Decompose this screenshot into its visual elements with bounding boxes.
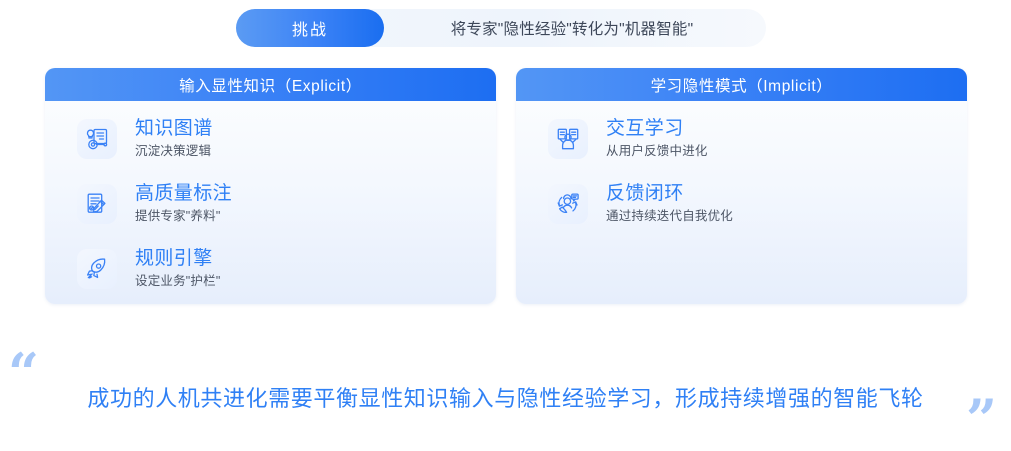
challenge-banner: 挑战 将专家"隐性经验"转化为"机器智能" bbox=[236, 9, 766, 47]
feature-subtitle: 提供专家"养料" bbox=[135, 208, 232, 225]
quote-close-icon: ” bbox=[966, 392, 997, 446]
feature-title: 规则引擎 bbox=[135, 247, 220, 271]
card-explicit: 输入显性知识（Explicit） bbox=[45, 68, 496, 304]
card-implicit-body: 交互学习 从用户反馈中进化 bbox=[516, 101, 967, 304]
feature-title: 知识图谱 bbox=[135, 117, 213, 141]
feature-title: 反馈闭环 bbox=[606, 182, 733, 206]
feature-text: 知识图谱 沉淀决策逻辑 bbox=[135, 117, 213, 160]
challenge-tag: 挑战 bbox=[236, 9, 384, 47]
feature-high-quality-annotation[interactable]: 高质量标注 提供专家"养料" bbox=[45, 182, 496, 225]
feature-subtitle: 通过持续迭代自我优化 bbox=[606, 208, 733, 225]
challenge-statement: 将专家"隐性经验"转化为"机器智能" bbox=[384, 17, 766, 39]
summary-quote: “ 成功的人机共进化需要平衡显性知识输入与隐性经验学习，形成持续增强的智能飞轮 … bbox=[0, 344, 1011, 448]
rocket-icon bbox=[77, 249, 117, 289]
feature-text: 反馈闭环 通过持续迭代自我优化 bbox=[606, 182, 733, 225]
interactive-learning-icon bbox=[548, 119, 588, 159]
feature-rule-engine[interactable]: 规则引擎 设定业务"护栏" bbox=[45, 247, 496, 290]
feature-interactive-learning[interactable]: 交互学习 从用户反馈中进化 bbox=[516, 117, 967, 160]
feature-text: 交互学习 从用户反馈中进化 bbox=[606, 117, 708, 160]
feature-title: 交互学习 bbox=[606, 117, 708, 141]
feature-text: 高质量标注 提供专家"养料" bbox=[135, 182, 232, 225]
card-implicit: 学习隐性模式（Implicit） bbox=[516, 68, 967, 304]
card-explicit-header: 输入显性知识（Explicit） bbox=[45, 68, 496, 101]
feature-subtitle: 沉淀决策逻辑 bbox=[135, 143, 213, 160]
feature-knowledge-graph[interactable]: 知识图谱 沉淀决策逻辑 bbox=[45, 117, 496, 160]
cards-container: 输入显性知识（Explicit） bbox=[45, 68, 967, 304]
card-explicit-body: 知识图谱 沉淀决策逻辑 bbox=[45, 101, 496, 304]
feature-feedback-loop[interactable]: 反馈闭环 通过持续迭代自我优化 bbox=[516, 182, 967, 225]
feature-subtitle: 从用户反馈中进化 bbox=[606, 143, 708, 160]
feature-text: 规则引擎 设定业务"护栏" bbox=[135, 247, 220, 290]
annotation-document-icon bbox=[77, 184, 117, 224]
quote-text: 成功的人机共进化需要平衡显性知识输入与隐性经验学习，形成持续增强的智能飞轮 bbox=[0, 381, 1011, 413]
knowledge-graph-icon bbox=[77, 119, 117, 159]
feature-title: 高质量标注 bbox=[135, 182, 232, 206]
card-implicit-header: 学习隐性模式（Implicit） bbox=[516, 68, 967, 101]
feedback-loop-icon bbox=[548, 184, 588, 224]
challenge-tag-label: 挑战 bbox=[292, 16, 328, 40]
feature-subtitle: 设定业务"护栏" bbox=[135, 273, 220, 290]
